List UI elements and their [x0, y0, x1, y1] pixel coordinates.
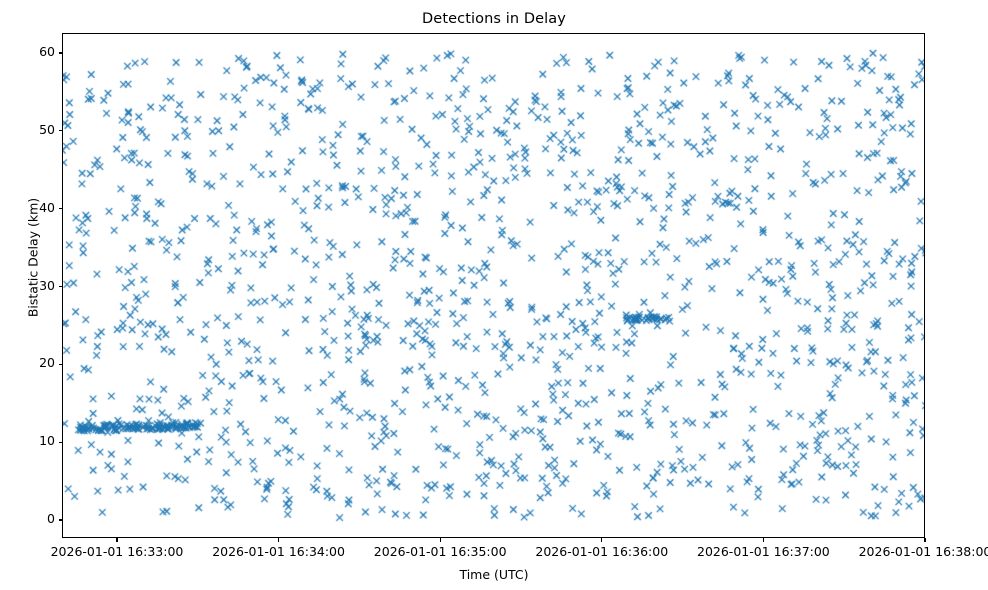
x-tick-mark	[763, 538, 764, 542]
scatter-plot-canvas	[63, 34, 925, 538]
x-tick-label: 2026-01-01 16:36:00	[512, 544, 692, 559]
x-tick-label: 2026-01-01 16:34:00	[189, 544, 369, 559]
x-tick-mark	[116, 538, 117, 542]
x-axis-label: Time (UTC)	[0, 567, 988, 582]
plot-axes	[62, 33, 925, 538]
y-tick-mark	[59, 364, 63, 365]
y-axis-label: Bistatic Delay (km)	[26, 108, 41, 408]
x-tick-mark	[278, 538, 279, 542]
y-tick-mark	[59, 286, 63, 287]
page-title: Detections in Delay	[0, 11, 988, 27]
y-tick-mark	[59, 519, 63, 520]
x-tick-label: 2026-01-01 16:35:00	[350, 544, 530, 559]
x-tick-mark	[601, 538, 602, 542]
y-tick-label: 60	[0, 44, 55, 59]
y-tick-label: 10	[0, 433, 55, 448]
x-tick-mark	[440, 538, 441, 542]
matplotlib-figure: Detections in Delay 0102030405060 2026-0…	[0, 0, 988, 590]
y-tick-mark	[59, 208, 63, 209]
x-tick-label: 2026-01-01 16:33:00	[27, 544, 207, 559]
x-tick-label: 2026-01-01 16:38:00	[835, 544, 988, 559]
y-tick-label: 0	[0, 511, 55, 526]
y-tick-mark	[59, 52, 63, 53]
y-tick-mark	[59, 130, 63, 131]
y-tick-mark	[59, 442, 63, 443]
x-tick-mark	[924, 538, 925, 542]
x-tick-label: 2026-01-01 16:37:00	[673, 544, 853, 559]
